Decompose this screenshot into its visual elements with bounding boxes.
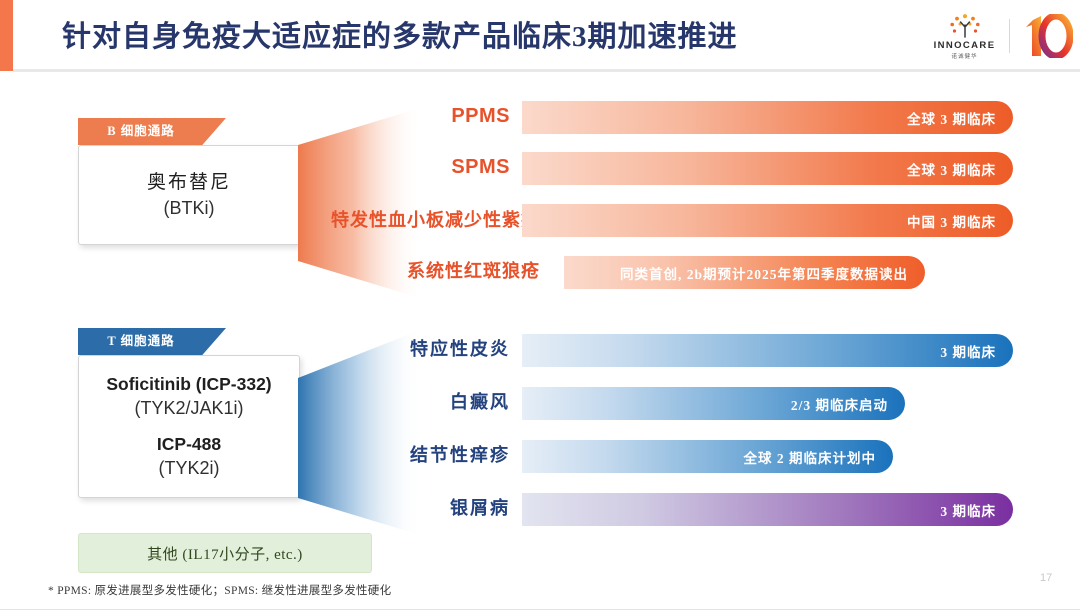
drug-target-btki: (BTKi) bbox=[164, 196, 215, 220]
status-bar-vitiligo: 2/3 期临床启动 bbox=[522, 387, 905, 420]
indication-label-ppms: PPMS bbox=[330, 104, 510, 128]
indication-label-prurigo-nodularis: 结节性痒疹 bbox=[330, 443, 510, 467]
footer-divider bbox=[0, 609, 1080, 610]
logo-divider bbox=[1009, 19, 1010, 53]
status-bar-sle: 同类首创, 2b期预计2025年第四季度数据读出 bbox=[564, 256, 925, 289]
status-text-sle: 同类首创, 2b期预计2025年第四季度数据读出 bbox=[620, 263, 908, 283]
indication-label-psoriasis: 银屑病 bbox=[330, 496, 510, 520]
status-bar-atopic-dermatitis: 3 期临床 bbox=[522, 334, 1013, 367]
status-text-ppms: 全球 3 期临床 bbox=[907, 108, 996, 128]
other-pipeline-box: 其他 (IL17小分子, etc.) bbox=[78, 533, 372, 573]
pathway-header-b-cell: B 细胞通路 bbox=[78, 118, 226, 145]
other-pipeline-label: 其他 (IL17小分子, etc.) bbox=[147, 543, 303, 564]
status-text-vitiligo: 2/3 期临床启动 bbox=[791, 394, 888, 414]
footnote: * PPMS: 原发进展型多发性硬化；SPMS: 继发性进展型多发性硬化 bbox=[48, 582, 391, 598]
page-number: 17 bbox=[1040, 572, 1052, 584]
status-text-itp: 中国 3 期临床 bbox=[907, 211, 996, 231]
innocare-logo: INNOCARE 诺诚健华 bbox=[925, 13, 1004, 60]
indication-label-itp: 特发性血小板减少性紫癜 bbox=[300, 208, 540, 232]
indication-label-spms: SPMS bbox=[330, 155, 510, 179]
drug-name-soficitinib: Soficitinib (ICP-332) bbox=[106, 373, 271, 396]
header-accent-bar bbox=[0, 0, 13, 71]
status-text-psoriasis: 3 期临床 bbox=[940, 500, 996, 520]
drug-name-icp488: ICP-488 bbox=[157, 433, 221, 456]
innocare-mark-icon bbox=[948, 13, 982, 39]
status-bar-prurigo-nodularis: 全球 2 期临床计划中 bbox=[522, 440, 893, 473]
header-divider bbox=[13, 69, 1080, 72]
drug-name-obutinib: 奥布替尼 bbox=[147, 170, 231, 196]
page-title: 针对自身免疫大适应症的多款产品临床3期加速推进 bbox=[62, 13, 862, 61]
drug-target-tyk2i: (TYK2i) bbox=[158, 456, 219, 480]
status-bar-psoriasis: 3 期临床 bbox=[522, 493, 1013, 526]
indication-label-vitiligo: 白癜风 bbox=[330, 390, 510, 414]
status-text-atopic-dermatitis: 3 期临床 bbox=[940, 341, 996, 361]
status-text-spms: 全球 3 期临床 bbox=[907, 159, 996, 179]
status-bar-spms: 全球 3 期临床 bbox=[522, 152, 1013, 185]
indication-label-atopic-dermatitis: 特应性皮炎 bbox=[330, 337, 510, 361]
status-text-prurigo-nodularis: 全球 2 期临床计划中 bbox=[744, 447, 877, 467]
drug-box-b-cell: 奥布替尼 (BTKi) bbox=[78, 145, 300, 245]
drug-target-tyk2-jak1i: (TYK2/JAK1i) bbox=[134, 396, 243, 420]
anniversary-10-icon bbox=[1019, 14, 1073, 58]
pathway-header-t-cell: T 细胞通路 bbox=[78, 328, 226, 355]
innocare-wordmark: INNOCARE bbox=[934, 40, 996, 51]
brand-logo: INNOCARE 诺诚健华 bbox=[925, 8, 1073, 64]
drug-box-t-cell: Soficitinib (ICP-332) (TYK2/JAK1i) ICP-4… bbox=[78, 355, 300, 498]
slide-canvas: 针对自身免疫大适应症的多款产品临床3期加速推进 INNOCARE 诺 bbox=[0, 0, 1080, 615]
innocare-wordmark-cn: 诺诚健华 bbox=[952, 52, 978, 60]
status-bar-ppms: 全球 3 期临床 bbox=[522, 101, 1013, 134]
indication-label-sle: 系统性红斑狼疮 bbox=[320, 259, 540, 283]
status-bar-itp: 中国 3 期临床 bbox=[522, 204, 1013, 237]
